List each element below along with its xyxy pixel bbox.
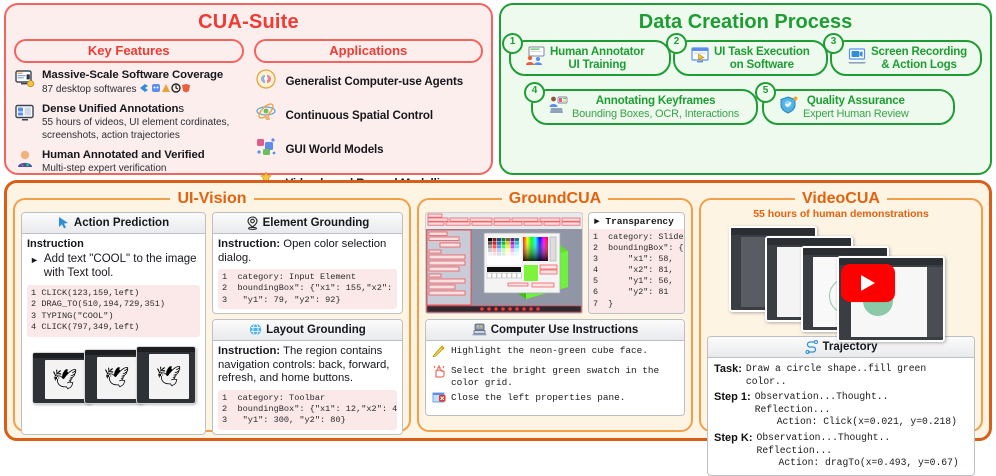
youtube-play-icon (841, 264, 895, 302)
feature-sub: 87 desktop softwares (42, 83, 244, 96)
feature-heading: Massive-Scale Software Coverage (42, 69, 244, 82)
hummingbird-art-icon: 🕊 (52, 370, 77, 390)
instruction-item: Close the left properties pane. (431, 392, 679, 409)
demonstration-frames: ⤵ (707, 224, 975, 332)
trajectory-row: Task: Draw a circle shape..fill green co… (714, 363, 968, 388)
highlighter-icon (431, 345, 446, 362)
videocua-subtitle: 55 hours of human demonstrations (707, 208, 975, 220)
trajectory-row: Step K: Observation...Thought.. Reflecti… (714, 432, 968, 470)
screenshot-thumb: 🕊 (32, 352, 92, 404)
human-verified-icon (14, 149, 36, 172)
data-creation-title: Data Creation Process (509, 11, 982, 34)
pipeline-row-1: 1 Human Annotator UI Training 2 UI Task … (509, 40, 982, 76)
annotated-3d-editor-screenshot (425, 212, 583, 314)
ui-vision-title: UI-Vision (170, 190, 253, 208)
application-item: Generalist Computer-use Agents (254, 69, 484, 94)
click-hand-icon (431, 365, 446, 383)
videocua-section: VideoCUA 55 hours of human demonstration… (699, 190, 983, 432)
instruction-heading: Instruction (27, 238, 200, 250)
application-label: Generalist Computer-use Agents (286, 75, 464, 88)
training-icon (525, 46, 547, 70)
feature-sub: Multi-step expert verification (42, 163, 244, 175)
videocua-title: VideoCUA (795, 190, 887, 208)
cursor-arrow-icon (58, 216, 70, 230)
data-creation-panel: Data Creation Process 1 Human Annotator … (499, 3, 992, 175)
close-window-icon (431, 392, 446, 409)
screenshot-thumb: 🕊 (136, 346, 196, 404)
feature-sub: 55 hours of videos, UI element cordinate… (42, 117, 244, 141)
step-label: Annotating Keyframes Bounding Boxes, OCR… (572, 94, 739, 120)
step-label: Quality Assurance Expert Human Review (803, 94, 909, 120)
element-grounding-instruction: Instruction: Open color selection dialog… (218, 238, 397, 265)
layout-grounding-code: 1 category: Toolbar 2 boundingBox": {"x1… (218, 390, 397, 430)
pipeline-step-3: 3 Screen Recording & Action Logs (830, 40, 982, 76)
desktop-software-icon (14, 69, 36, 92)
transparency-code: 1 category: Slider 2 boundingBox": { 3 "… (589, 229, 684, 313)
gui-world-model-icon (254, 137, 278, 162)
step-label: Screen Recording & Action Logs (871, 45, 967, 71)
triangle-right-icon: ► (594, 216, 600, 227)
layout-grounding-card: Layout Grounding Instruction: The region… (212, 319, 403, 435)
task-execution-icon (689, 46, 711, 70)
step-number: 4 (524, 82, 545, 103)
brain-agent-icon (254, 69, 278, 94)
instruction-bullet: ► Add text "COOL" to the image with Text… (27, 253, 200, 280)
benchmarks-row: UI-Vision Action Prediction Instruction … (4, 180, 992, 441)
spatial-control-icon (254, 103, 278, 128)
application-item: GUI World Models (254, 137, 484, 162)
action-prediction-header: Action Prediction (22, 213, 205, 234)
pipeline-step-2: 2 UI Task Execution on Software (673, 40, 828, 76)
step-label: Human Annotator UI Training (550, 45, 644, 71)
top-row: CUA-Suite Key Features Massive-Scale Sof… (0, 0, 996, 175)
step-number: 3 (823, 33, 844, 54)
application-item: Continuous Spatial Control (254, 103, 484, 128)
applications-heading: Applications (254, 39, 484, 63)
action-code-block: 1 CLICK(123,159,left) 2 DRAG_TO(510,194,… (27, 285, 200, 336)
screenshot-thumb: 🕊 (84, 349, 144, 404)
pipeline-row-2: 4 Annotating Keyframes Bounding Boxes, O… (509, 89, 982, 125)
trajectory-card: Trajectory Task: Draw a circle shape..fi… (707, 336, 975, 476)
layout-grounding-header: Layout Grounding (213, 320, 402, 341)
triangle-right-icon: ► (30, 253, 39, 280)
feature-item: Human Annotated and Verified Multi-step … (14, 149, 244, 175)
key-features-heading: Key Features (14, 39, 244, 63)
hummingbird-art-icon: 🕊 (156, 367, 181, 387)
action-screenshots: 🕊 🕊 🕊 (27, 337, 200, 404)
pipeline-step-1: 1 Human Annotator UI Training (509, 40, 671, 76)
ui-vision-section: UI-Vision Action Prediction Instruction … (13, 190, 411, 432)
groundcua-section: GroundCUA (417, 190, 693, 432)
robot-laptop-icon (472, 323, 487, 337)
step-number: 5 (755, 82, 776, 103)
feature-heading: Dense Unified Annotations (42, 103, 244, 116)
cua-suite-panel: CUA-Suite Key Features Massive-Scale Sof… (4, 3, 493, 175)
pipeline-step-4: 4 Annotating Keyframes Bounding Boxes, O… (531, 89, 758, 125)
feature-item: Dense Unified Annotations 55 hours of vi… (14, 103, 244, 141)
computer-use-instructions-header: Computer Use Instructions (426, 320, 684, 341)
step-number: 1 (502, 33, 523, 54)
trajectory-icon (805, 340, 819, 354)
pipeline-step-5: 5 Quality Assurance Expert Human Review (762, 89, 955, 125)
location-pin-icon (246, 216, 259, 230)
feature-item: Massive-Scale Software Coverage 87 deskt… (14, 69, 244, 96)
feature-heading: Human Annotated and Verified (42, 149, 244, 162)
instruction-item: Select the bright green swatch in the co… (431, 365, 679, 389)
step-label: UI Task Execution on Software (714, 45, 810, 71)
keyframe-annotation-icon (547, 95, 569, 119)
globe-icon (249, 323, 262, 337)
action-prediction-card: Action Prediction Instruction ► Add text… (21, 212, 206, 435)
groundcua-title: GroundCUA (502, 190, 608, 208)
cua-suite-title: CUA-Suite (14, 11, 483, 34)
element-grounding-code: 1 category: Input Element 2 boundingBox"… (218, 269, 397, 309)
application-label: Continuous Spatial Control (286, 109, 433, 122)
application-label: GUI World Models (286, 143, 384, 156)
computer-use-instructions-card: Computer Use Instructions Highlight the … (425, 319, 685, 416)
transparency-card: ► Transparency 1 category: Slider 2 boun… (588, 212, 685, 314)
trajectory-row: Step 1: Observation...Thought.. Reflecti… (714, 391, 968, 429)
element-grounding-header: Element Grounding (213, 213, 402, 234)
transparency-header: ► Transparency (589, 213, 684, 229)
instruction-item: Highlight the neon-green cube face. (431, 345, 679, 362)
annotation-monitor-icon (14, 103, 36, 126)
quality-shield-icon (778, 95, 800, 119)
element-grounding-card: Element Grounding Instruction: Open colo… (212, 212, 403, 314)
layout-grounding-instruction: Instruction: The region contains navigat… (218, 345, 397, 386)
screen-recording-icon (846, 46, 868, 70)
software-logos-icon (139, 84, 201, 95)
step-number: 2 (666, 33, 687, 54)
hummingbird-art-icon: 🕊 (104, 368, 129, 388)
